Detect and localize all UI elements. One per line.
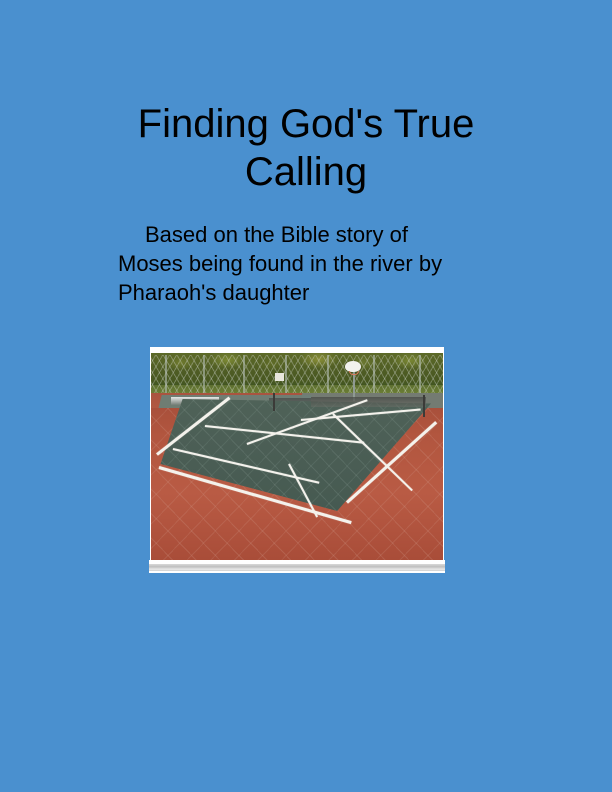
cover-image — [150, 347, 444, 573]
subtitle-line-3: Pharaoh's daughter — [118, 278, 518, 307]
chain-link-fence — [151, 355, 444, 395]
fence-sign — [275, 373, 284, 381]
tennis-net — [311, 397, 426, 407]
title-line-2: Calling — [0, 148, 612, 196]
title-line-1: Finding God's True — [0, 100, 612, 148]
image-shelf — [149, 564, 445, 571]
net-post-left — [273, 393, 275, 411]
book-cover: Finding God's True Calling Based on the … — [0, 0, 612, 792]
tennis-court-photo — [151, 353, 444, 560]
page-subtitle: Based on the Bible story of Moses being … — [118, 220, 518, 307]
subtitle-line-2: Moses being found in the river by — [118, 249, 518, 278]
net-post-right — [423, 395, 425, 417]
cover-image-frame — [150, 347, 444, 560]
page-title: Finding God's True Calling — [0, 100, 612, 196]
subtitle-line-1: Based on the Bible story of — [118, 220, 518, 249]
image-shelf-edge — [149, 571, 445, 573]
